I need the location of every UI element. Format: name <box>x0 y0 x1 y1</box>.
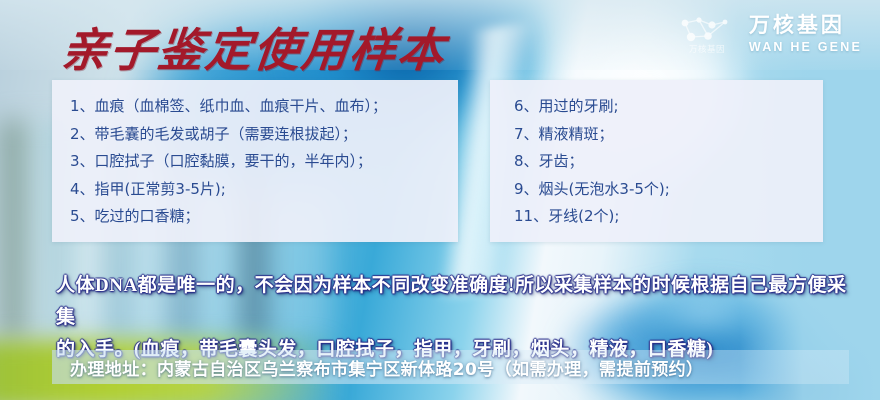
list-item: 2、带毛囊的毛发或胡子（需要连根拔起）； <box>52 121 458 149</box>
brand-logo: 万核基因 万核基因 WAN HE GENE <box>679 14 862 54</box>
brand-logo-text: 万核基因 WAN HE GENE <box>749 15 862 54</box>
brand-name-cn: 万核基因 <box>749 15 862 36</box>
list-item: 3、口腔拭子（口腔黏膜，要干的，半年内）； <box>52 148 458 176</box>
list-item: 9、烟头(无泡水3-5个); <box>490 176 823 204</box>
list-item: 5、吃过的口香糖； <box>52 203 458 231</box>
molecule-dna-icon: 万核基因 <box>679 14 741 54</box>
list-item: 4、指甲(正常剪3-5片); <box>52 176 458 204</box>
sample-list-right: 6、用过的牙刷; 7、精液精斑； 8、牙齿； 9、烟头(无泡水3-5个); 11… <box>490 80 823 231</box>
address-text: 办理地址：内蒙古自治区乌兰察布市集宁区新体路20号（如需办理，需提前预约） <box>52 355 703 380</box>
list-item: 1、血痕（血棉签、纸巾血、血痕干片、血布）； <box>52 93 458 121</box>
address-bar: 办理地址：内蒙古自治区乌兰察布市集宁区新体路20号（如需办理，需提前预约） <box>52 350 849 384</box>
list-item: 8、牙齿； <box>490 148 823 176</box>
sample-list-left: 1、血痕（血棉签、纸巾血、血痕干片、血布）； 2、带毛囊的毛发或胡子（需要连根拔… <box>52 80 458 231</box>
logo-mark-caption: 万核基因 <box>689 44 725 54</box>
sample-list-panel-right: 6、用过的牙刷; 7、精液精斑； 8、牙齿； 9、烟头(无泡水3-5个); 11… <box>490 80 823 242</box>
poster-canvas: 万核基因 万核基因 WAN HE GENE 亲子鉴定使用样本 1、血痕（血棉签、… <box>0 0 880 400</box>
note-line-1: 人体DNA都是唯一的，不会因为样本不同改变准确度!所以采集样本的时候根据自己最方… <box>56 270 856 334</box>
list-item: 6、用过的牙刷; <box>490 93 823 121</box>
sample-list-panel-left: 1、血痕（血棉签、纸巾血、血痕干片、血布）； 2、带毛囊的毛发或胡子（需要连根拔… <box>52 80 458 242</box>
list-item: 11、牙线(2个); <box>490 203 823 231</box>
brand-name-en: WAN HE GENE <box>749 41 862 54</box>
list-item: 7、精液精斑； <box>490 121 823 149</box>
page-title: 亲子鉴定使用样本 <box>59 14 450 80</box>
